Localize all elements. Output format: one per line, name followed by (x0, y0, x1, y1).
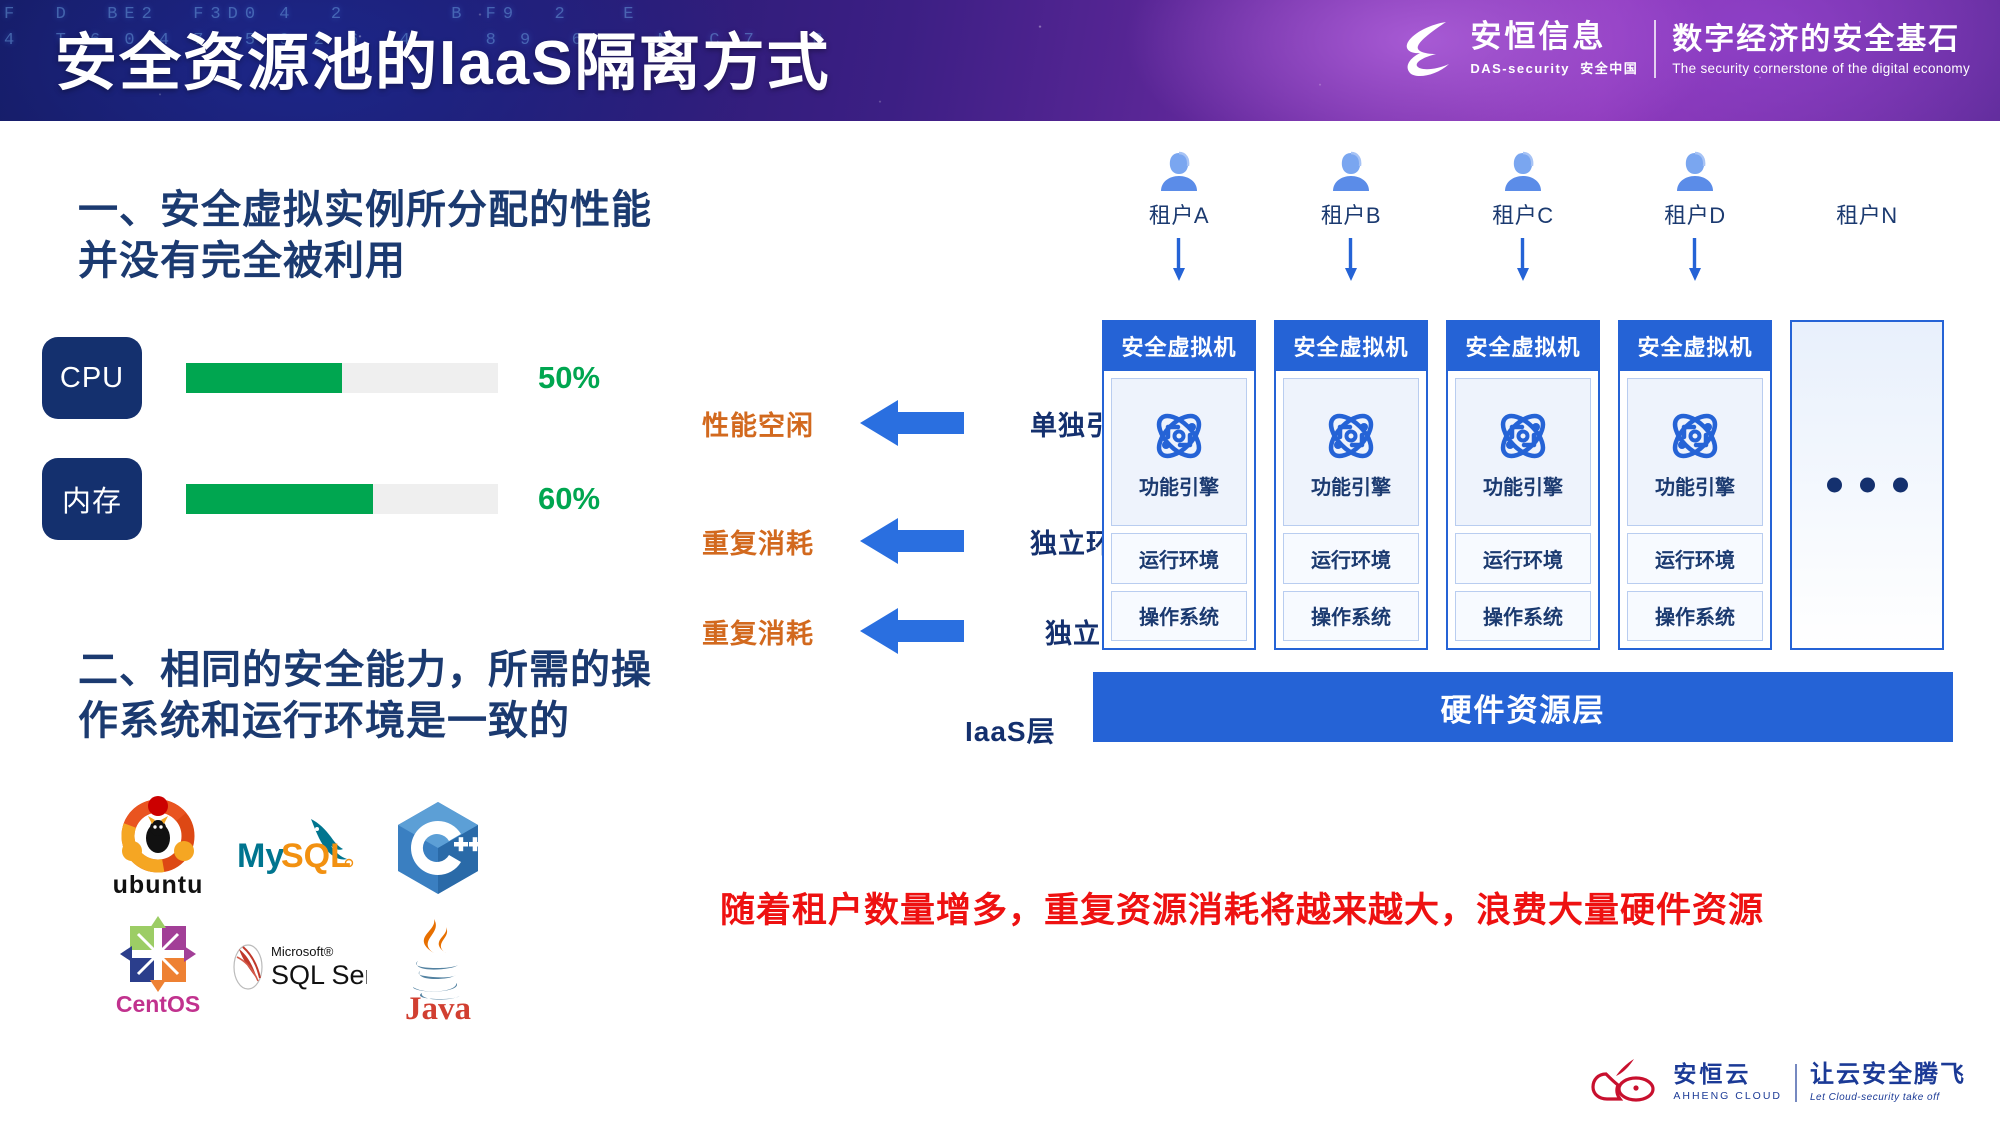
vm-engine-c: 功能引擎 (1455, 378, 1591, 526)
footer-slogan-en: Let Cloud-security take off (1810, 1092, 1966, 1103)
point-one-text: 一、安全虚拟实例所分配的性能并没有完全被利用 (78, 185, 658, 287)
vm-os-c: 操作系统 (1455, 591, 1591, 642)
vm-column-b: 安全虚拟机 (1265, 320, 1437, 650)
svg-text:Microsoft®: Microsoft® (271, 944, 334, 959)
ahheng-cloud-icon (1590, 1056, 1660, 1109)
footer-slogan-cn: 让云安全腾飞 (1810, 1063, 1966, 1087)
svg-text:My: My (237, 837, 284, 875)
vm-engine-d: 功能引擎 (1627, 378, 1763, 526)
metric-cpu-track (186, 363, 498, 393)
vm-box: 安全虚拟机 (1446, 320, 1600, 650)
down-arrow-icon (1688, 238, 1702, 282)
user-icon-placeholder (1846, 150, 1888, 194)
tenant-a-label: 租户A (1149, 198, 1209, 230)
das-swoosh-icon (1402, 18, 1454, 80)
user-icon (1158, 150, 1200, 194)
metric-memory-percent: 60% (538, 481, 600, 517)
vm-runtime-a: 运行环境 (1111, 533, 1247, 584)
metric-memory-label: 内存 (42, 458, 142, 540)
warning-text: 随着租户数量增多，重复资源消耗将越来越大，浪费大量硬件资源 (720, 882, 1764, 933)
arrow-row-2-left-label: 重复消耗 (702, 522, 832, 561)
down-arrow-icon (1344, 238, 1358, 282)
metric-cpu-fill (186, 363, 342, 393)
tenant-d: 租户D (1609, 150, 1781, 265)
arrow-row-1-left-label: 性能空闲 (702, 404, 832, 443)
metric-cpu-percent: 50% (538, 360, 600, 396)
metric-memory-track (186, 484, 498, 514)
arrow-row-1: 性能空闲 单独引擎 (702, 400, 1142, 446)
user-icon (1674, 150, 1716, 194)
ubuntu-logo: ubuntu (88, 788, 228, 908)
svg-text:Java: Java (405, 991, 471, 1021)
tenant-c-label: 租户C (1492, 198, 1553, 230)
arrow-row-3: 重复消耗 独立OS (702, 608, 1142, 654)
engine-icon (1664, 405, 1726, 467)
brand-slogan-block: 数字经济的安全基石 The security cornerstone of th… (1672, 23, 1970, 76)
tenant-iaas-diagram: 租户A 租户B (1093, 150, 1953, 770)
vm-box: 安全虚拟机 (1102, 320, 1256, 650)
java-logo: Java (368, 908, 508, 1028)
footer-slogan-block: 让云安全腾飞 Let Cloud-security take off (1810, 1063, 1966, 1103)
metric-memory: 内存 60% (42, 458, 600, 540)
metric-memory-fill (186, 484, 373, 514)
down-arrow-icon (1516, 238, 1530, 282)
tenant-a: 租户A (1093, 150, 1265, 265)
tenant-c: 租户C (1437, 150, 1609, 265)
vm-runtime-d: 运行环境 (1627, 533, 1763, 584)
brand-divider (1654, 20, 1656, 78)
footer-name-en: AHHENG CLOUD (1673, 1090, 1782, 1102)
footer-name-cn: 安恒云 (1673, 1063, 1782, 1086)
brand-lockup: 安恒信息 DAS-security 安全中国 数字经济的安全基石 The sec… (1402, 18, 1970, 80)
tenant-d-label: 租户D (1664, 198, 1725, 230)
arrow-row-3-left-label: 重复消耗 (702, 612, 832, 651)
svg-text:SQL: SQL (281, 837, 351, 875)
left-arrow-icon (860, 608, 964, 654)
brand-name-tag: 安全中国 (1580, 61, 1638, 76)
down-arrow-icon (1172, 238, 1186, 282)
footer-logo: 安恒云 AHHENG CLOUD 让云安全腾飞 Let Cloud-securi… (1590, 1056, 1966, 1109)
vm-column-c: 安全虚拟机 (1437, 320, 1609, 650)
mysql-logo: My SQL (228, 788, 368, 908)
page-title: 安全资源池的IaaS隔离方式 (55, 12, 831, 102)
vm-body: 功能引擎 运行环境 操作系统 (1276, 371, 1426, 648)
left-arrow-icon (860, 400, 964, 446)
vm-runtime-c: 运行环境 (1455, 533, 1591, 584)
arrow-row-2: 重复消耗 独立环境 (702, 518, 1142, 564)
vm-os-b: 操作系统 (1283, 591, 1419, 642)
vm-body: 功能引擎 运行环境 操作系统 (1620, 371, 1770, 648)
vm-row: 安全虚拟机 (1093, 320, 1953, 650)
sqlserver-logo: Microsoft® SQL Server (228, 908, 368, 1028)
vm-runtime-b: 运行环境 (1283, 533, 1419, 584)
slide-root: F D BE2 F3D0 4 2 B F9 2 E 4 T 6 0 4 7 5 … (0, 0, 2000, 1125)
vm-body: 功能引擎 运行环境 操作系统 (1448, 371, 1598, 648)
vm-column-a: 安全虚拟机 (1093, 320, 1265, 650)
brand-name-cn: 安恒信息 (1470, 21, 1606, 54)
vm-engine-label-d: 功能引擎 (1655, 471, 1735, 500)
vm-title-b: 安全虚拟机 (1276, 322, 1426, 371)
iaas-layer-label: IaaS层 (965, 710, 1056, 750)
vm-engine-a: 功能引擎 (1111, 378, 1247, 526)
left-arrow-icon (860, 518, 964, 564)
engine-icon (1492, 405, 1554, 467)
cplusplus-logo (368, 788, 508, 908)
vm-engine-label-c: 功能引擎 (1483, 471, 1563, 500)
vm-column-n (1781, 320, 1953, 650)
metric-cpu: CPU 50% (42, 337, 600, 419)
tech-logo-grid: ubuntu My SQL (88, 788, 508, 1028)
vm-column-d: 安全虚拟机 (1609, 320, 1781, 650)
vm-box: 安全虚拟机 (1274, 320, 1428, 650)
user-icon (1502, 150, 1544, 194)
ellipsis-dots-icon (1792, 478, 1942, 493)
vm-engine-label-a: 功能引擎 (1139, 471, 1219, 500)
brand-slogan-cn: 数字经济的安全基石 (1672, 23, 1960, 56)
footer-divider (1795, 1064, 1797, 1102)
tenant-n: 租户N (1781, 150, 1953, 265)
svg-text:ubuntu: ubuntu (113, 871, 204, 899)
vm-os-d: 操作系统 (1627, 591, 1763, 642)
iaas-hardware-bar: 硬件资源层 (1093, 672, 1953, 742)
vm-body: 功能引擎 运行环境 操作系统 (1104, 371, 1254, 648)
slide-header: F D BE2 F3D0 4 2 B F9 2 E 4 T 6 0 4 7 5 … (0, 0, 2000, 121)
vm-box-placeholder (1790, 320, 1944, 650)
tenant-n-label: 租户N (1836, 198, 1897, 230)
vm-box: 安全虚拟机 (1618, 320, 1772, 650)
brand-name-block: 安恒信息 DAS-security 安全中国 (1470, 21, 1638, 77)
vm-title-d: 安全虚拟机 (1620, 322, 1770, 371)
centos-logo: CentOS (88, 908, 228, 1028)
vm-os-a: 操作系统 (1111, 591, 1247, 642)
tenant-b: 租户B (1265, 150, 1437, 265)
tenant-b-label: 租户B (1321, 198, 1381, 230)
user-icon (1330, 150, 1372, 194)
svg-text:CentOS: CentOS (116, 991, 200, 1017)
engine-icon (1148, 405, 1210, 467)
svg-text:SQL Server: SQL Server (271, 960, 367, 990)
brand-name-en: DAS-security (1470, 61, 1570, 76)
engine-icon (1320, 405, 1382, 467)
point-two-text: 二、相同的安全能力，所需的操作系统和运行环境是一致的 (78, 645, 658, 747)
vm-title-c: 安全虚拟机 (1448, 322, 1598, 371)
footer-name-block: 安恒云 AHHENG CLOUD (1673, 1063, 1782, 1102)
metric-cpu-label: CPU (42, 337, 142, 419)
brand-slogan-en: The security cornerstone of the digital … (1672, 61, 1970, 76)
vm-title-a: 安全虚拟机 (1104, 322, 1254, 371)
vm-engine-label-b: 功能引擎 (1311, 471, 1391, 500)
tenant-row: 租户A 租户B (1093, 150, 1953, 265)
vm-engine-b: 功能引擎 (1283, 378, 1419, 526)
